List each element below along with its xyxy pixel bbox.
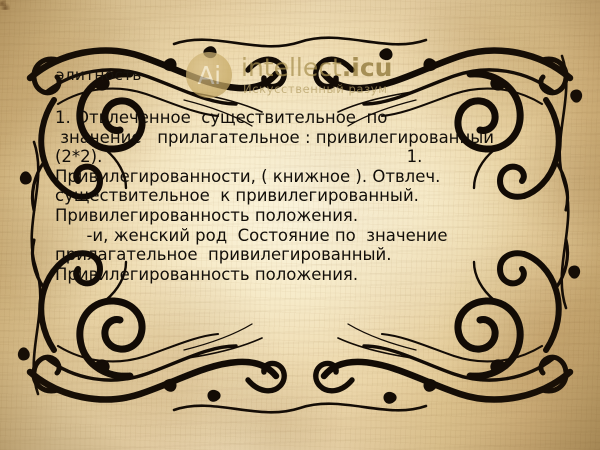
definition-line-text: 1. Отвлеченное существительное по xyxy=(55,108,387,127)
definition-body: 1. Отвлеченное существительное по значен… xyxy=(55,108,555,284)
definition-sense-marker: 1. xyxy=(102,147,422,167)
parchment-slide: Ai intellect.icu Искусственный разум эли… xyxy=(0,0,600,450)
definition-line-text: прилагательное привилегированный. xyxy=(55,245,391,264)
definition-line-text: Привилегированность положения. xyxy=(55,206,358,225)
definition-line-text: (2*2). xyxy=(55,147,102,166)
definition-line: 1. Отвлеченное существительное по xyxy=(55,108,555,128)
definition-line-text: значение прилагательное : привилегирован… xyxy=(55,128,494,147)
definition-line: прилагательное привилегированный. xyxy=(55,245,555,265)
definition-line-text: Привилегированности, ( книжное ). Отвлеч… xyxy=(55,167,440,186)
definition-line-text: существительное к привилегированный. xyxy=(55,186,419,205)
definition-line-text: -и, женский род Состояние по значение xyxy=(55,226,447,245)
definition-line: (2*2).1. xyxy=(55,147,555,167)
definition-line: значение прилагательное : привилегирован… xyxy=(55,128,555,148)
definition-line: -и, женский род Состояние по значение xyxy=(55,226,555,246)
definition-line: Привилегированности, ( книжное ). Отвлеч… xyxy=(55,167,555,187)
definition-line: Привилегированность положения. xyxy=(55,206,555,226)
definition-line-text: Привилегированность положения. xyxy=(55,265,358,284)
page-title: элитность xyxy=(56,66,142,84)
definition-line: Привилегированность положения. xyxy=(55,265,555,285)
definition-line: существительное к привилегированный. xyxy=(55,186,555,206)
